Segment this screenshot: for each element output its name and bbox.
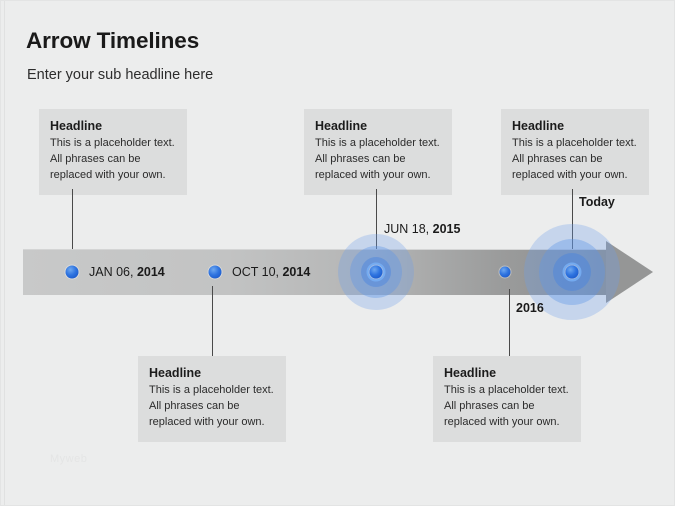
marker-dot-icon [500, 267, 511, 278]
milestone-year: 2014 [282, 265, 310, 279]
callout-headline: Headline [444, 366, 570, 380]
milestone-label-today: Today [579, 195, 615, 209]
callout-bottom-1[interactable]: Headline This is a placeholder text. All… [138, 356, 286, 442]
marker-dot-icon [370, 266, 383, 279]
callout-body: This is a placeholder text. All phrases … [315, 136, 441, 183]
callout-top-2[interactable]: Headline This is a placeholder text. All… [304, 109, 452, 195]
marker-dot-icon [209, 266, 222, 279]
leader-line-bottom-2 [509, 289, 510, 356]
callout-headline: Headline [512, 119, 638, 133]
milestone-monthday: OCT 10, [232, 265, 282, 279]
milestone-year: 2015 [433, 222, 461, 236]
milestone-label-2: OCT 10, 2014 [232, 265, 310, 279]
watermark: Myweb [50, 453, 87, 465]
callout-body: This is a placeholder text. All phrases … [50, 136, 176, 183]
milestone-year: 2016 [516, 301, 544, 315]
marker-dot-icon [66, 266, 79, 279]
callout-body: This is a placeholder text. All phrases … [149, 383, 275, 430]
page-subtitle: Enter your sub headline here [27, 67, 213, 83]
callout-body: This is a placeholder text. All phrases … [512, 136, 638, 183]
milestone-label-4: 2016 [516, 301, 544, 315]
leader-line-bottom-1 [212, 286, 213, 356]
page-title: Arrow Timelines [26, 28, 199, 54]
milestone-label-1: JAN 06, 2014 [89, 265, 165, 279]
callout-top-1[interactable]: Headline This is a placeholder text. All… [39, 109, 187, 195]
callout-headline: Headline [149, 366, 275, 380]
milestone-year: 2014 [137, 265, 165, 279]
callout-bottom-2[interactable]: Headline This is a placeholder text. All… [433, 356, 581, 442]
milestone-label-3: JUN 18, 2015 [384, 222, 460, 236]
slide-canvas: Arrow Timelines Enter your sub headline … [0, 0, 675, 506]
milestone-monthday: JUN 18, [384, 222, 433, 236]
milestone-monthday: JAN 06, [89, 265, 137, 279]
callout-headline: Headline [50, 119, 176, 133]
callout-body: This is a placeholder text. All phrases … [444, 383, 570, 430]
callout-headline: Headline [315, 119, 441, 133]
callout-top-3[interactable]: Headline This is a placeholder text. All… [501, 109, 649, 195]
marker-dot-icon [566, 266, 579, 279]
